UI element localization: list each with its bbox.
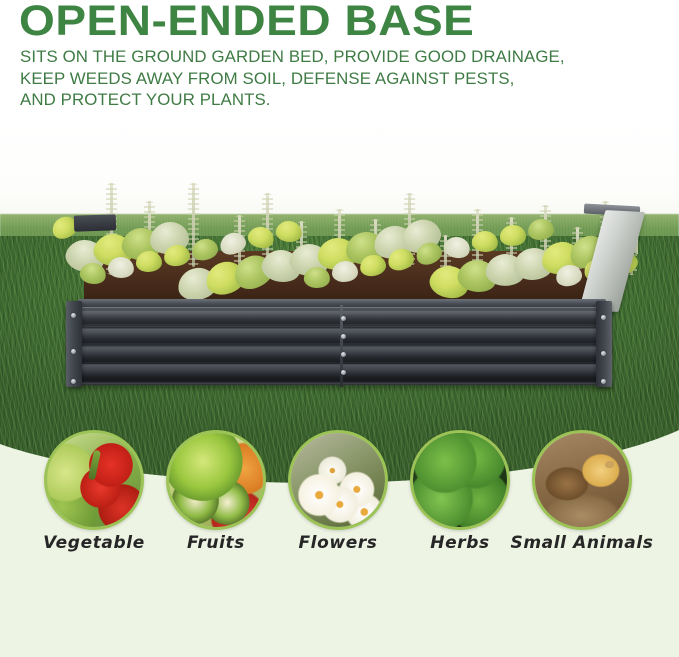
panel-screw bbox=[341, 316, 346, 321]
categories-section: VegetableFruitsFlowersHerbsSmall Animals bbox=[0, 400, 679, 657]
subtitle-line-1: SITS ON THE GROUND GARDEN BED, PROVIDE G… bbox=[20, 47, 673, 69]
plant-foliage bbox=[163, 244, 190, 267]
plant-foliage bbox=[499, 224, 526, 247]
panel-screw bbox=[341, 352, 346, 357]
plant-foliage bbox=[303, 266, 331, 290]
panel-screw bbox=[341, 370, 346, 375]
flowers-photo bbox=[288, 430, 388, 530]
chicks-photo bbox=[532, 430, 632, 530]
raised-garden-bed bbox=[44, 173, 639, 408]
subtitle-line-2: KEEP WEEDS AWAY FROM SOIL, DEFENSE AGAIN… bbox=[20, 69, 673, 91]
panel-screw bbox=[71, 379, 76, 384]
vegetable-photo bbox=[44, 430, 144, 530]
vegetable-photo-fill bbox=[47, 433, 141, 527]
subtitle-line-3: AND PROTECT YOUR PLANTS. bbox=[20, 90, 673, 112]
bed-back-lip bbox=[74, 214, 117, 231]
panel-screw bbox=[71, 349, 76, 354]
plant-foliage bbox=[332, 261, 358, 282]
chicks-photo-fill bbox=[535, 433, 629, 527]
category-label: Small Animals bbox=[510, 533, 654, 553]
herbs-photo-fill bbox=[413, 433, 507, 527]
herbs-photo bbox=[410, 430, 510, 530]
panel-screw bbox=[341, 334, 346, 339]
header-block: OPEN-ENDED BASE SITS ON THE GROUND GARDE… bbox=[0, 0, 679, 118]
plant-cluster bbox=[52, 171, 638, 313]
flowers-photo-fill bbox=[291, 433, 385, 527]
category-circle-row: VegetableFruitsFlowersHerbsSmall Animals bbox=[0, 400, 679, 657]
panel-screw bbox=[601, 315, 606, 320]
panel-screw bbox=[601, 379, 606, 384]
panel-screw bbox=[601, 351, 606, 356]
plant-foliage bbox=[136, 251, 163, 273]
panel-screw bbox=[71, 313, 76, 318]
fruits-photo-fill bbox=[169, 433, 263, 527]
corner-post-right bbox=[596, 301, 612, 387]
fruits-photo bbox=[166, 430, 266, 530]
subtitle-block: SITS ON THE GROUND GARDEN BED, PROVIDE G… bbox=[20, 47, 673, 112]
product-feature-image: OPEN-ENDED BASE SITS ON THE GROUND GARDE… bbox=[0, 0, 679, 657]
page-title: OPEN-ENDED BASE bbox=[19, 0, 474, 44]
